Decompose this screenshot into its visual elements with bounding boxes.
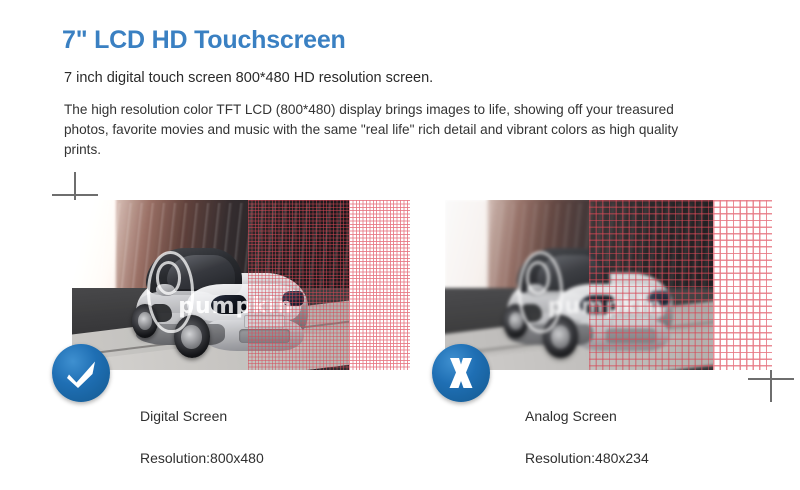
car-mirror: [156, 284, 175, 296]
car-headlight-right: [282, 291, 304, 307]
pixel-grid-tail-fine: [349, 200, 410, 370]
car-front-wheel: [543, 315, 578, 358]
car-headlight-left: [580, 295, 615, 314]
car-front-wheel: [174, 315, 210, 358]
analog-screen-image: pumpkin: [445, 200, 772, 370]
page-title: 7" LCD HD Touchscreen: [62, 26, 346, 55]
lead-paragraph: 7 inch digital touch screen 800*480 HD r…: [64, 70, 433, 86]
sports-car: [136, 246, 308, 358]
check-icon: [52, 344, 110, 402]
car-front-rim: [551, 325, 571, 349]
car-headlight-right: [648, 291, 670, 307]
car-license-plate: [244, 315, 285, 327]
car-front-rim: [181, 325, 201, 349]
car-rear-wheel: [132, 304, 158, 338]
status-badge-analog: [432, 344, 490, 402]
car-headlight-left: [211, 295, 247, 314]
car-license-plate: [611, 315, 651, 327]
caption-title: Digital Screen: [140, 406, 264, 427]
status-badge-digital: [52, 344, 110, 402]
car-grille: [606, 329, 656, 344]
body-paragraph: The high resolution color TFT LCD (800*4…: [64, 100, 716, 160]
car-photo-digital: pumpkin: [72, 200, 349, 370]
sports-car: [507, 246, 673, 358]
car-grille: [239, 329, 291, 344]
car-rear-rim: [138, 312, 152, 331]
car-rear-rim: [509, 312, 523, 331]
caption-title: Analog Screen: [525, 406, 649, 427]
car-rear-wheel: [503, 304, 528, 338]
caption-digital-screen: Digital Screen Resolution:800x480: [140, 385, 264, 490]
digital-screen-image: pumpkin: [72, 200, 410, 370]
cross-icon: [432, 344, 490, 402]
caption-analog-screen: Analog Screen Resolution:480x234: [525, 385, 649, 490]
pixel-grid-tail-coarse: [713, 200, 772, 370]
car-mirror: [527, 284, 545, 296]
